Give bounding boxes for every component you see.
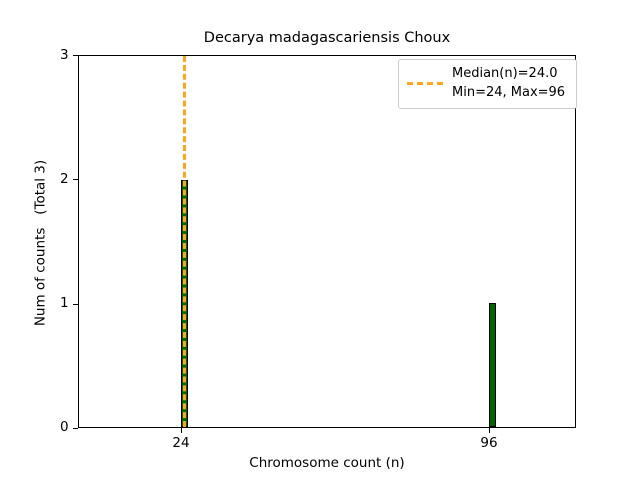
legend-label-minmax: Min=24, Max=96: [452, 85, 565, 102]
y-axis-label: Num of counts (Total 3): [33, 57, 49, 430]
x-tick-label-24: 24: [172, 437, 189, 451]
plot-area: Median(n)=24.0 Min=24, Max=96: [78, 55, 576, 428]
y-tick-mark-1: [73, 304, 78, 305]
legend: Median(n)=24.0 Min=24, Max=96: [398, 59, 577, 109]
chart-figure: Decarya madagascariensis Choux 3 2 1 0 2…: [0, 0, 640, 480]
legend-row: Median(n)=24.0 Min=24, Max=96: [407, 66, 568, 101]
plot-surface: Median(n)=24.0 Min=24, Max=96: [79, 56, 575, 427]
y-tick-label-0: 0: [60, 421, 69, 435]
bar-96[interactable]: [489, 303, 497, 427]
chart-title: Decarya madagascariensis Choux: [78, 30, 576, 46]
y-tick-label-2: 2: [60, 173, 69, 187]
legend-label-median: Median(n)=24.0: [452, 66, 565, 83]
x-tick-mark-96: [489, 428, 490, 433]
y-tick-label-1: 1: [60, 297, 69, 311]
x-tick-label-96: 96: [480, 437, 497, 451]
legend-label-group: Median(n)=24.0 Min=24, Max=96: [452, 66, 565, 101]
x-tick-mark-24: [181, 428, 182, 433]
legend-dashed-line-icon: [407, 82, 443, 85]
y-tick-mark-3: [73, 55, 78, 56]
y-tick-mark-0: [73, 428, 78, 429]
x-axis-label: Chromosome count (n): [78, 455, 576, 471]
median-line: [183, 56, 186, 427]
y-tick-label-3: 3: [60, 49, 69, 63]
y-tick-mark-2: [73, 179, 78, 180]
